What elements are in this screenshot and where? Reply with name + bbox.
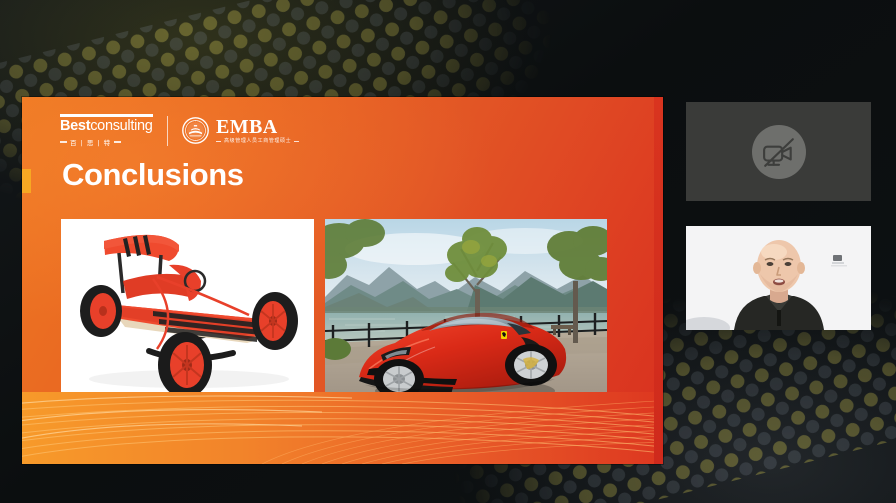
best-consulting-logo: Bestconsulting 百 | 思 | 特 <box>60 114 153 147</box>
camera-off-icon <box>762 135 796 169</box>
soapbox-kart-illustration <box>61 219 314 403</box>
best-consulting-wordmark: Bestconsulting <box>60 119 153 134</box>
emba-sub-dash <box>216 141 221 142</box>
participant-tile-speaker[interactable] <box>686 226 871 330</box>
soapbox-kart-photo <box>61 219 314 403</box>
subtitle-tick <box>60 141 67 143</box>
slide-right-edge-decor <box>654 97 663 464</box>
logo-divider <box>167 116 169 146</box>
logo-word-bold: Best <box>60 118 90 134</box>
slide-wave-decor <box>22 392 663 464</box>
emba-logo: EMBA 高级管理人员工商管理硕士 <box>182 117 299 144</box>
emba-wordmark: EMBA <box>216 117 299 137</box>
university-seal-icon <box>182 117 209 144</box>
logo-word-regular: consulting <box>90 118 152 134</box>
ferrari-lakeside-illustration <box>325 219 607 409</box>
ferrari-photo <box>325 219 607 409</box>
title-accent-bar <box>22 169 31 193</box>
camera-off-avatar <box>752 125 806 179</box>
slide-logo-bar: Bestconsulting 百 | 思 | 特 <box>60 114 299 147</box>
logo-rule <box>60 114 153 117</box>
slide-title: Conclusions <box>62 157 244 193</box>
emba-subtitle: 高级管理人员工商管理硕士 <box>224 139 291 144</box>
emba-subtitle-row: 高级管理人员工商管理硕士 <box>216 139 299 144</box>
emba-sub-dash <box>294 141 299 142</box>
best-consulting-subtitle-cn: 百 | 思 | 特 <box>70 137 111 147</box>
best-consulting-subtitle: 百 | 思 | 特 <box>60 137 153 147</box>
emba-text-block: EMBA 高级管理人员工商管理硕士 <box>216 117 299 144</box>
meeting-stage: Bestconsulting 百 | 思 | 特 <box>0 0 896 503</box>
presentation-slide[interactable]: Bestconsulting 百 | 思 | 特 <box>22 97 663 464</box>
subtitle-tick <box>114 141 121 143</box>
participant-tile-camera-off[interactable] <box>686 102 871 201</box>
speaker-webcam-feed <box>686 226 871 330</box>
